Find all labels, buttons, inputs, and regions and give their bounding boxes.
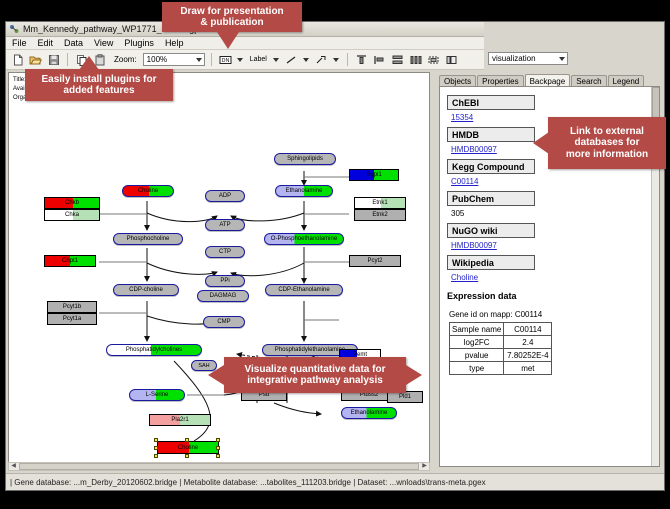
callout-plugins: Easily install plugins for added feature… (25, 69, 173, 101)
selection-handle[interactable] (154, 454, 158, 458)
zoom-label: Zoom: (114, 55, 137, 64)
db-header-kegg: Kegg Compound (447, 159, 535, 174)
status-bar: | Gene database: ...m_Derby_20120602.bri… (6, 473, 664, 490)
gene-chka[interactable]: Chka (44, 209, 100, 221)
pathway-canvas-pane[interactable]: Title: Availa Organi (8, 72, 430, 471)
menu-view[interactable]: View (93, 38, 114, 48)
distribute-icon[interactable] (408, 52, 423, 67)
db-header-hmdb: HMDB (447, 127, 535, 142)
gene-chkb[interactable]: Chkb (44, 197, 100, 209)
menu-help[interactable]: Help (164, 38, 185, 48)
node-ethanolamine-top[interactable]: Ethanolamine (275, 185, 333, 197)
line-tool-icon[interactable] (284, 52, 299, 67)
gene-etnk1[interactable]: Etnk1 (354, 197, 406, 209)
datanode-icon[interactable]: DN (218, 52, 233, 67)
toolbar-separator (67, 53, 68, 66)
callout-plugins-arrow-icon (79, 56, 99, 70)
zoom-value: 100% (147, 55, 167, 64)
table-row: type met (450, 362, 552, 375)
db-link-hmdb[interactable]: HMDB00097 (451, 145, 497, 154)
selection-handle[interactable] (185, 438, 189, 442)
db-link-chebi[interactable]: 15354 (451, 113, 473, 122)
db-link-wikipedia[interactable]: Choline (451, 273, 478, 282)
menu-plugins[interactable]: Plugins (123, 38, 155, 48)
callout-links: Link to external databases for more info… (548, 117, 666, 169)
node-cmp[interactable]: CMP (203, 316, 245, 328)
node-cdp-ethanolamine[interactable]: CDP-Ethanolamine (265, 284, 343, 296)
selection-handle[interactable] (185, 454, 189, 458)
callout-links-text: Link to external databases for more info… (566, 126, 648, 161)
db-link-kegg[interactable]: C00114 (451, 177, 478, 186)
selection-handle[interactable] (216, 438, 220, 442)
callout-draw-text: Draw for presentation & publication (180, 6, 283, 29)
chevron-down-icon (196, 58, 202, 62)
toolbar-separator (211, 53, 212, 66)
node-sphingolipids[interactable]: Sphingolipids (274, 153, 336, 165)
scroll-left-icon[interactable]: ◀ (9, 463, 18, 470)
node-o-phosphoethanolamine[interactable]: O-Phosphoethanolamine (264, 233, 344, 245)
expression-table: Sample name C00114 log2FC 2.4 pvalue 7.8… (449, 322, 552, 375)
chevron-down-icon[interactable] (303, 58, 309, 62)
node-l-serine-left[interactable]: L-Serine (129, 389, 185, 401)
cell-label: type (450, 362, 504, 375)
node-ppi[interactable]: PPi (205, 275, 245, 287)
callout-visualize: Visualize quantitative data for integrat… (224, 357, 406, 393)
chevron-down-icon[interactable] (273, 58, 279, 62)
gene-id-line: Gene id on mapp: C00114 (449, 310, 649, 319)
node-choline-selected[interactable]: Choline (157, 441, 219, 454)
cell-value: 2.4 (504, 336, 552, 349)
scroll-right-icon[interactable]: ▶ (420, 463, 429, 470)
node-choline-top[interactable]: Choline (122, 185, 174, 197)
toolbar-separator (347, 53, 348, 66)
svg-text:DN: DN (221, 58, 229, 64)
new-file-icon[interactable] (10, 52, 25, 67)
chevron-down-icon (559, 57, 565, 61)
status-text: | Gene database: ...m_Derby_20120602.bri… (10, 478, 486, 487)
chevron-down-icon[interactable] (333, 58, 339, 62)
db-value-pubchem: 305 (451, 209, 464, 218)
gene-pcyt1b[interactable]: Pcyt1b (47, 301, 97, 313)
order-icon[interactable] (444, 52, 459, 67)
db-header-chebi: ChEBI (447, 95, 535, 110)
table-row: Sample name C00114 (450, 323, 552, 336)
zoom-select[interactable]: 100% (143, 53, 205, 66)
visualization-value: visualization (492, 54, 536, 63)
pathway-canvas[interactable]: Title: Availa Organi (9, 73, 430, 471)
gene-pla2r1[interactable]: Pla2r1 (149, 414, 211, 426)
selection-handle[interactable] (216, 446, 220, 450)
table-row: log2FC 2.4 (450, 336, 552, 349)
callout-links-arrow-icon (533, 132, 549, 154)
callout-visualize-arrow-left-icon (208, 365, 224, 385)
cell-value: 7.80252E-4 (504, 349, 552, 362)
chevron-down-icon[interactable] (237, 58, 243, 62)
cell-label: pvalue (450, 349, 504, 362)
visualization-bar: visualization (484, 22, 664, 70)
db-header-nugo: NuGO wiki (447, 223, 535, 238)
db-header-pubchem: PubChem (447, 191, 535, 206)
db-header-wikipedia: Wikipedia (447, 255, 535, 270)
gene-sgpl1[interactable]: Sgpl1 (349, 169, 399, 181)
open-file-icon[interactable] (28, 52, 43, 67)
node-cdp-choline[interactable]: CDP-choline (113, 284, 179, 296)
save-file-icon[interactable] (46, 52, 61, 67)
expression-data-header: Expression data (447, 291, 649, 301)
node-phosphatidylcholines[interactable]: Phosphatidylcholines (106, 344, 202, 356)
cell-value: met (504, 362, 552, 375)
menu-file[interactable]: File (11, 38, 28, 48)
gene-chpt1[interactable]: Chpt1 (44, 255, 96, 267)
node-dag-mag[interactable]: DAGMAG (197, 290, 249, 302)
callout-draw: Draw for presentation & publication (162, 2, 302, 32)
selection-handle[interactable] (154, 438, 158, 442)
group-icon[interactable] (426, 52, 441, 67)
table-row: pvalue 7.80252E-4 (450, 349, 552, 362)
selection-handle[interactable] (154, 446, 158, 450)
callout-draw-arrow-icon (217, 32, 239, 49)
node-phosphocholine[interactable]: Phosphocholine (113, 233, 183, 245)
label-button[interactable]: Label (248, 56, 269, 63)
visualization-select[interactable]: visualization (488, 52, 568, 65)
callout-visualize-arrow-right-icon (406, 365, 422, 385)
node-ctp[interactable]: CTP (205, 246, 245, 258)
cell-value: C00114 (504, 323, 552, 336)
gene-etnk2[interactable]: Etnk2 (354, 209, 406, 221)
interaction-tool-icon[interactable] (314, 52, 329, 67)
gene-pcyt1a[interactable]: Pcyt1a (47, 313, 97, 325)
node-ethanolamine-bottom[interactable]: Ethanolamine (341, 407, 397, 419)
callout-visualize-text: Visualize quantitative data for integrat… (245, 364, 386, 387)
screenshot-root: Mm_Kennedy_pathway_WP1771_45176.gpml Fil… (0, 0, 670, 509)
menu-edit[interactable]: Edit (37, 38, 55, 48)
app-icon (9, 24, 19, 34)
menu-data[interactable]: Data (63, 38, 84, 48)
db-link-nugo[interactable]: HMDB00097 (451, 241, 497, 250)
align-top-icon[interactable] (354, 52, 369, 67)
callout-plugins-text: Easily install plugins for added feature… (41, 74, 156, 97)
node-adp[interactable]: ADP (205, 190, 245, 202)
cell-label: log2FC (450, 336, 504, 349)
align-left-icon[interactable] (372, 52, 387, 67)
selection-handle[interactable] (216, 454, 220, 458)
stack-vertical-icon[interactable] (390, 52, 405, 67)
canvas-horizontal-scrollbar[interactable]: ◀ ▶ (8, 462, 430, 471)
scrollbar-thumb[interactable] (19, 463, 419, 470)
node-atp[interactable]: ATP (205, 219, 245, 231)
gene-pcyt2[interactable]: Pcyt2 (349, 255, 401, 267)
cell-label: Sample name (450, 323, 504, 336)
